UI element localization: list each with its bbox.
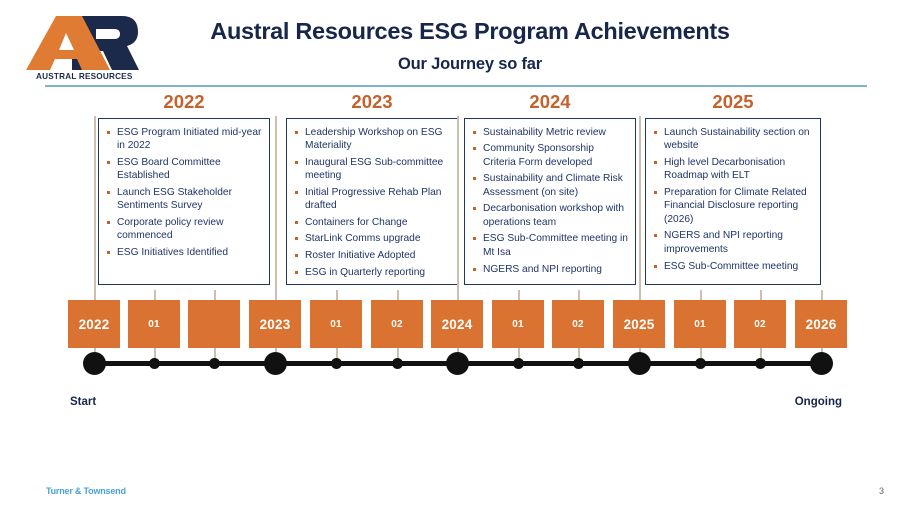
timeline-block-label: 02 <box>391 319 403 330</box>
timeline-block-label: 2022 <box>79 317 110 332</box>
list-item: NGERS and NPI reporting improvements <box>651 229 814 256</box>
list-item: Initial Progressive Rehab Plan drafted <box>292 186 451 213</box>
list-item: ESG Program Initiated mid-year in 2022 <box>104 126 263 153</box>
timeline-block-2024[interactable]: 2024 <box>431 300 483 348</box>
timeline-block-2026[interactable]: 2026 <box>795 300 847 348</box>
timeline-dot-2024 <box>446 352 469 375</box>
year-column-2024: 2024 Sustainability Metric review Commun… <box>464 93 636 285</box>
timeline-dot-2023-q2 <box>392 358 403 369</box>
timeline-dot-2024-q2 <box>573 358 584 369</box>
timeline-block-2023[interactable]: 2023 <box>249 300 301 348</box>
timeline-blocks: 2022 01 2023 01 02 2024 01 02 2025 01 02… <box>0 300 912 348</box>
timeline-dot-2026 <box>810 352 833 375</box>
year-heading-2025: 2025 <box>645 93 821 112</box>
list-item: Sustainability and Climate Risk Assessme… <box>470 172 629 199</box>
timeline-block-2024-q1[interactable]: 01 <box>492 300 544 348</box>
list-item: Corporate policy review commenced <box>104 216 263 243</box>
list-item: Launch ESG Stakeholder Sentiments Survey <box>104 186 263 213</box>
year-box-2022: ESG Program Initiated mid-year in 2022 E… <box>98 118 270 285</box>
timeline-block-label: 2023 <box>260 317 291 332</box>
list-item: Inaugural ESG Sub-committee meeting <box>292 156 451 183</box>
list-item: Roster Initiative Adopted <box>292 249 451 263</box>
timeline-dot-2024-q1 <box>513 358 524 369</box>
timeline-block-2025-q1[interactable]: 01 <box>674 300 726 348</box>
timeline-dot-2022 <box>83 352 106 375</box>
timeline-block-2023-q2[interactable]: 02 <box>371 300 423 348</box>
timeline-block-2022-q1[interactable]: 01 <box>128 300 180 348</box>
list-item: Decarbonisation workshop with operations… <box>470 202 629 229</box>
page-title: Austral Resources ESG Program Achievemen… <box>150 18 790 46</box>
ar-monogram-icon: AUSTRAL RESOURCES <box>26 12 144 84</box>
timeline-block-label: 2026 <box>806 317 837 332</box>
austral-resources-logo: AUSTRAL RESOURCES <box>26 12 144 84</box>
timeline-dot-2025-q2 <box>755 358 766 369</box>
timeline-block-2023-q1[interactable]: 01 <box>310 300 362 348</box>
footer-page-number: 3 <box>879 486 884 496</box>
year-box-2023: Leadership Workshop on ESG Materiality I… <box>286 118 458 285</box>
header-divider <box>45 85 867 87</box>
timeline-dot-2023 <box>264 352 287 375</box>
list-item: Launch Sustainability section on website <box>651 126 814 153</box>
timeline-block-label: 01 <box>148 319 160 330</box>
page-subtitle: Our Journey so far <box>150 55 790 74</box>
list-item: NGERS and NPI reporting <box>470 263 629 277</box>
timeline-block-2024-q2[interactable]: 02 <box>552 300 604 348</box>
timeline-dot-2025 <box>628 352 651 375</box>
achievement-list-2022: ESG Program Initiated mid-year in 2022 E… <box>104 126 263 260</box>
timeline-block-2022[interactable]: 2022 <box>68 300 120 348</box>
achievement-list-2025: Launch Sustainability section on website… <box>651 126 814 274</box>
year-columns: 2022 ESG Program Initiated mid-year in 2… <box>0 93 912 293</box>
year-column-2025: 2025 Launch Sustainability section on we… <box>645 93 821 285</box>
achievement-list-2024: Sustainability Metric review Community S… <box>470 126 629 277</box>
list-item: StarLink Comms upgrade <box>292 232 451 246</box>
timeline-block-label: 01 <box>512 319 524 330</box>
list-item: Containers for Change <box>292 216 451 230</box>
timeline-block-2025-q2[interactable]: 02 <box>734 300 786 348</box>
year-box-2025: Launch Sustainability section on website… <box>645 118 821 285</box>
achievement-list-2023: Leadership Workshop on ESG Materiality I… <box>292 126 451 280</box>
timeline-block-2022-q2[interactable] <box>188 300 240 348</box>
timeline-block-label: 02 <box>572 319 584 330</box>
logo-wordmark: AUSTRAL RESOURCES <box>36 72 133 81</box>
timeline-block-label: 02 <box>754 319 766 330</box>
list-item: Preparation for Climate Related Financia… <box>651 186 814 227</box>
timeline-dot-2023-q1 <box>331 358 342 369</box>
year-column-2023: 2023 Leadership Workshop on ESG Material… <box>286 93 458 285</box>
timeline-block-2025[interactable]: 2025 <box>613 300 665 348</box>
list-item: ESG Sub-Committee meeting in Mt Isa <box>470 232 629 259</box>
timeline-dot-2022-q2 <box>209 358 220 369</box>
list-item: Sustainability Metric review <box>470 126 629 140</box>
year-heading-2024: 2024 <box>464 93 636 112</box>
footer-brand: Turner & Townsend <box>46 486 126 496</box>
list-item: High level Decarbonisation Roadmap with … <box>651 156 814 183</box>
year-box-2024: Sustainability Metric review Community S… <box>464 118 636 285</box>
list-item: Leadership Workshop on ESG Materiality <box>292 126 451 153</box>
title-block: Austral Resources ESG Program Achievemen… <box>150 18 790 74</box>
timeline-block-label: 2025 <box>624 317 655 332</box>
timeline-block-label: 01 <box>694 319 706 330</box>
year-heading-2023: 2023 <box>286 93 458 112</box>
timeline-start-label: Start <box>70 396 96 408</box>
timeline-block-label: 2024 <box>442 317 473 332</box>
timeline-block-label: 01 <box>330 319 342 330</box>
year-heading-2022: 2022 <box>98 93 270 112</box>
timeline-dot-2022-q1 <box>149 358 160 369</box>
year-column-2022: 2022 ESG Program Initiated mid-year in 2… <box>98 93 270 285</box>
list-item: ESG Initiatives Identified <box>104 246 263 260</box>
list-item: Community Sponsorship Criteria Form deve… <box>470 142 629 169</box>
list-item: ESG Sub-Committee meeting <box>651 260 814 274</box>
timeline-end-label: Ongoing <box>795 396 842 408</box>
list-item: ESG in Quarterly reporting <box>292 266 451 280</box>
timeline-dot-2025-q1 <box>695 358 706 369</box>
list-item: ESG Board Committee Established <box>104 156 263 183</box>
